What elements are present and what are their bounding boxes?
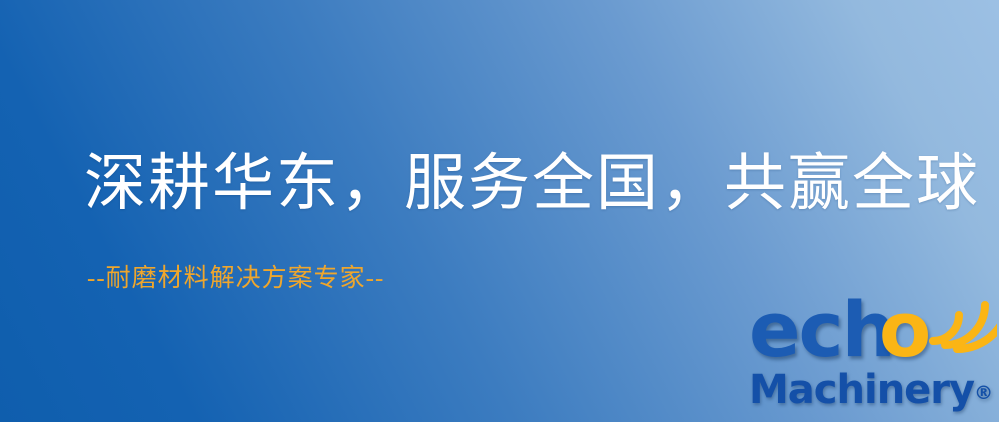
banner-headline: 深耕华东，服务全国，共赢全球 bbox=[84, 152, 980, 217]
logo-subbrand: Machinery® bbox=[749, 370, 993, 410]
signal-waves-icon bbox=[927, 291, 997, 355]
logo-wordmark: ech o bbox=[745, 296, 999, 370]
logo-text-ech: ech bbox=[749, 292, 894, 368]
echo-machinery-logo[interactable]: ech o Machinery® bbox=[745, 296, 999, 420]
banner-subtitle: --耐磨材料解决方案专家-- bbox=[87, 264, 384, 294]
hero-banner: 深耕华东，服务全国，共赢全球 --耐磨材料解决方案专家-- ech o bbox=[0, 0, 999, 422]
registered-trademark-icon: ® bbox=[974, 382, 993, 404]
logo-subbrand-text: Machinery bbox=[749, 367, 974, 413]
logo-text-o-accent: o bbox=[879, 292, 931, 368]
